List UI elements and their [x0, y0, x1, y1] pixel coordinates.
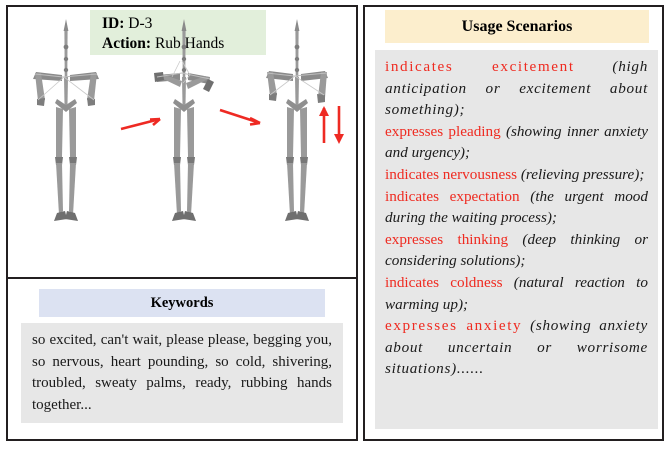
usage-scenario-item: expresses anxiety (showing anxiety about…	[385, 315, 648, 380]
usage-scenario-item: indicates coldness (natural reaction to …	[385, 272, 648, 315]
transition-arrow-1	[121, 119, 160, 129]
usage-scenario-desc: (relieving pressure);	[517, 166, 644, 183]
pose-sequence-panel: ID: D-3 Action: Rub Hands	[8, 7, 356, 279]
usage-scenario-lead: indicates nervousness	[385, 166, 517, 183]
usage-scenario-lead: expresses thinking	[385, 231, 508, 248]
usage-scenarios-content-box: indicates excitement (high anticipation …	[375, 50, 658, 429]
usage-scenario-item: expresses thinking (deep thinking or con…	[385, 229, 648, 272]
motion-arrow-up	[319, 106, 329, 143]
skeleton-frame-1	[33, 19, 99, 221]
usage-scenario-item: indicates expectation (the urgent mood d…	[385, 186, 648, 229]
left-column: ID: D-3 Action: Rub Hands	[6, 5, 358, 441]
usage-scenarios-panel: Usage Scenarios indicates excitement (hi…	[363, 5, 664, 441]
skeleton-frame-2	[154, 19, 214, 221]
usage-scenario-item: indicates excitement (high anticipation …	[385, 56, 648, 121]
usage-scenario-lead: indicates excitement	[385, 58, 575, 75]
keywords-panel: Keywords so excited, can't wait, please …	[8, 279, 356, 439]
keywords-header: Keywords	[39, 289, 325, 317]
usage-scenario-lead: indicates expectation	[385, 188, 520, 205]
skeleton-figure-area	[8, 7, 356, 277]
usage-scenario-lead: expresses pleading	[385, 123, 501, 140]
usage-scenario-lead: indicates coldness	[385, 274, 503, 291]
usage-scenario-item: indicates nervousness (relieving pressur…	[385, 164, 648, 186]
usage-scenario-item: expresses pleading (showing inner anxiet…	[385, 121, 648, 164]
skeleton-sequence-svg	[8, 7, 356, 279]
keywords-text: so excited, can't wait, please please, b…	[32, 330, 332, 416]
usage-scenario-lead: expresses anxiety	[385, 317, 522, 334]
skeleton-frame-3	[266, 19, 328, 221]
keywords-content-box: so excited, can't wait, please please, b…	[21, 323, 343, 423]
usage-scenarios-list: indicates excitement (high anticipation …	[385, 56, 648, 380]
motion-arrow-down	[334, 106, 344, 144]
transition-arrow-2	[220, 110, 260, 125]
usage-scenarios-header: Usage Scenarios	[385, 10, 649, 43]
